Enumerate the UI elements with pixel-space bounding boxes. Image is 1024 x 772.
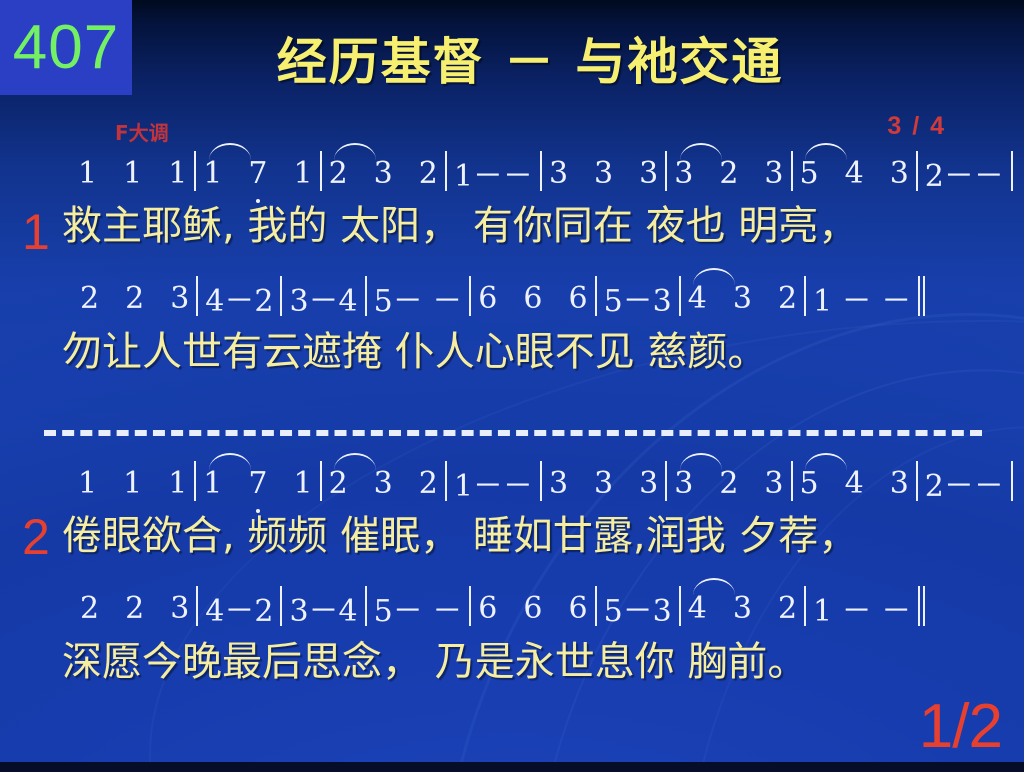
bar-line <box>194 461 196 501</box>
bar-line <box>469 276 471 316</box>
note: 3 <box>674 156 693 191</box>
note: 3 <box>674 466 693 501</box>
bottom-bar <box>0 762 1024 772</box>
note: 2 <box>125 281 144 316</box>
lyric-line: 倦眼欲合, 频频 催眠， 睡如甘露,润我 夕荐， <box>62 504 858 560</box>
note: 2－－ <box>925 461 1004 505</box>
bar-line <box>791 461 793 501</box>
bar-line <box>804 586 806 626</box>
notation-line: 1111712321－－3333235432－－ <box>78 150 1020 196</box>
note: 4－2 <box>205 586 273 630</box>
verse-number: 1 <box>22 207 50 257</box>
note: 3－4 <box>289 586 357 630</box>
note: 1－－ <box>454 461 533 505</box>
bar-line <box>320 151 322 191</box>
note: 3 <box>170 281 189 316</box>
bar-line <box>916 151 918 191</box>
notation-line: 1111712321－－3333235432－－ <box>78 460 1020 506</box>
note: 1 <box>293 156 312 191</box>
note: 3 <box>733 281 752 316</box>
note: 4－2 <box>205 276 273 320</box>
note: 2 <box>80 281 99 316</box>
note: 5－ － <box>374 586 463 630</box>
bar-line <box>540 461 542 501</box>
key-signature-label: F大调 <box>115 117 169 146</box>
hymn-number-badge: 407 <box>0 0 132 95</box>
lyric-line: 勿让人世有云遮掩 仆人心眼不见 慈颜。 <box>62 320 767 376</box>
double-bar-line <box>918 586 927 626</box>
note: 3 <box>549 156 568 191</box>
slur-icon <box>209 143 251 160</box>
note: 1 <box>123 466 142 501</box>
verse-divider <box>44 430 982 436</box>
bar-line <box>1011 461 1013 501</box>
note: 2 <box>125 591 144 626</box>
note: 5 <box>800 156 819 191</box>
lyric-line: 深愿今晚最后思念， 乃是永世息你 胸前。 <box>62 630 807 686</box>
bar-line <box>365 276 367 316</box>
bar-line <box>445 151 447 191</box>
note: 3 <box>639 466 658 501</box>
note: 3－4 <box>289 276 357 320</box>
bar-line <box>320 461 322 501</box>
note: 5－ － <box>374 276 463 320</box>
slur-icon <box>209 453 251 470</box>
note: 1 <box>78 156 97 191</box>
note: 2 <box>778 281 797 316</box>
bar-line <box>196 276 198 316</box>
double-bar-line <box>918 276 927 316</box>
note: 7 <box>248 156 267 191</box>
bar-line <box>194 151 196 191</box>
note: 3 <box>890 466 909 501</box>
bar-line <box>280 276 282 316</box>
hymn-number: 407 <box>13 17 119 79</box>
note: 2－－ <box>925 151 1004 195</box>
note: 3 <box>639 156 658 191</box>
note: 1 <box>123 156 142 191</box>
slide-canvas: 407 经历基督 － 与衪交通 F大调 3 / 4 1 1111712321－－… <box>0 0 1024 772</box>
slur-icon <box>693 268 735 285</box>
note: 7 <box>248 466 267 501</box>
note: 5－3 <box>604 586 672 630</box>
note: 2 <box>419 466 438 501</box>
note: 1 <box>168 156 187 191</box>
note: 4 <box>845 156 864 191</box>
note: 3 <box>764 156 783 191</box>
note: 5 <box>800 466 819 501</box>
notation-line: 2234－23－45－ －6665－34321 － － <box>80 275 930 321</box>
bar-line <box>679 276 681 316</box>
note: 2 <box>719 466 738 501</box>
slur-icon <box>680 453 722 470</box>
note: 1 <box>78 466 97 501</box>
slur-icon <box>693 578 735 595</box>
bar-line <box>365 586 367 626</box>
bar-line <box>280 586 282 626</box>
bar-line <box>540 151 542 191</box>
page-title: 经历基督 － 与衪交通 <box>180 36 880 89</box>
lyric-line: 救主耶稣, 我的 太阳， 有你同在 夜也 明亮， <box>62 194 858 250</box>
note: 6 <box>523 281 542 316</box>
note: 6 <box>568 591 587 626</box>
bar-line <box>679 586 681 626</box>
bar-line <box>791 151 793 191</box>
note: 4 <box>688 281 707 316</box>
note: 1 <box>203 466 222 501</box>
note: 3 <box>594 466 613 501</box>
verse-number: 2 <box>22 512 50 562</box>
note: 3 <box>733 591 752 626</box>
note: 2 <box>719 156 738 191</box>
slur-icon <box>334 453 376 470</box>
slide-page-number: 1/2 <box>919 696 1002 758</box>
note: 1 － － <box>813 586 911 630</box>
bar-line <box>665 461 667 501</box>
note: 2 <box>329 466 348 501</box>
note: 6 <box>478 281 497 316</box>
bar-line <box>469 586 471 626</box>
slur-icon <box>805 453 847 470</box>
bar-line <box>1011 151 1013 191</box>
note: 4 <box>688 591 707 626</box>
note: 6 <box>478 591 497 626</box>
time-signature-label: 3 / 4 <box>887 112 946 141</box>
note: 3 <box>549 466 568 501</box>
bar-line <box>196 586 198 626</box>
bar-line <box>665 151 667 191</box>
note: 3 <box>594 156 613 191</box>
note: 1 <box>203 156 222 191</box>
bar-line <box>595 276 597 316</box>
note: 2 <box>419 156 438 191</box>
note: 4 <box>845 466 864 501</box>
bar-line <box>445 461 447 501</box>
bar-line <box>595 586 597 626</box>
note: 2 <box>329 156 348 191</box>
slur-icon <box>680 143 722 160</box>
note: 3 <box>374 466 393 501</box>
note: 1－－ <box>454 151 533 195</box>
notation-line: 2234－23－45－ －6665－34321 － － <box>80 585 930 631</box>
note: 2 <box>80 591 99 626</box>
note: 1 － － <box>813 276 911 320</box>
bar-line <box>804 276 806 316</box>
note: 6 <box>568 281 587 316</box>
bar-line <box>916 461 918 501</box>
note: 2 <box>778 591 797 626</box>
note: 5－3 <box>604 276 672 320</box>
note: 3 <box>764 466 783 501</box>
note: 1 <box>293 466 312 501</box>
slur-icon <box>805 143 847 160</box>
note: 6 <box>523 591 542 626</box>
note: 3 <box>374 156 393 191</box>
note: 1 <box>168 466 187 501</box>
note: 3 <box>170 591 189 626</box>
slur-icon <box>334 143 376 160</box>
note: 3 <box>890 156 909 191</box>
